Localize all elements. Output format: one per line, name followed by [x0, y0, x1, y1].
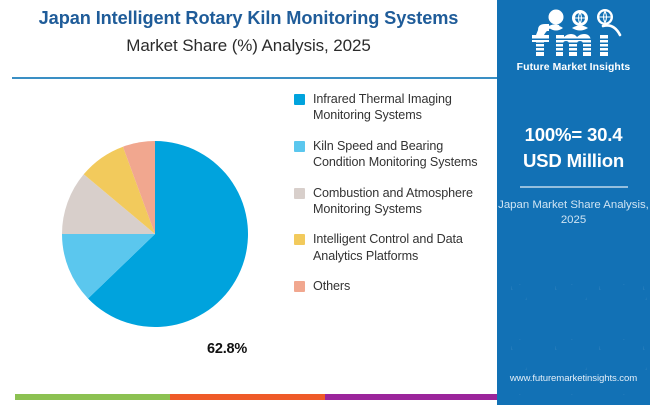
brand-side-panel: Future Market Insights 100%= 30.4 USD Mi… [497, 0, 650, 405]
pie-chart [62, 141, 248, 327]
fmi-logo-tagline: Future Market Insights [497, 62, 650, 73]
legend-item-label: Intelligent Control and Data Analytics P… [313, 231, 488, 264]
page-title: Japan Intelligent Rotary Kiln Monitoring… [0, 8, 497, 29]
legend-swatch-icon [294, 94, 305, 105]
fmi-logo: Future Market Insights [497, 8, 650, 73]
legend-item-label: Infrared Thermal Imaging Monitoring Syst… [313, 91, 488, 124]
stat-total-unit: USD Million [497, 148, 650, 174]
legend-item[interactable]: Kiln Speed and Bearing Condition Monitor… [294, 138, 494, 171]
strip-segment [170, 394, 325, 400]
stat-divider [520, 186, 628, 188]
chart-legend: Infrared Thermal Imaging Monitoring Syst… [294, 91, 494, 309]
fmi-logo-icon [512, 8, 636, 60]
pie-slice-data-label: 62.8% [207, 341, 247, 357]
infographic-root: Japan Intelligent Rotary Kiln Monitoring… [0, 0, 650, 405]
legend-item[interactable]: Intelligent Control and Data Analytics P… [294, 231, 494, 264]
page-subtitle: Market Share (%) Analysis, 2025 [0, 36, 497, 56]
stat-total-value: 100%= 30.4 [497, 122, 650, 148]
legend-item[interactable]: Infrared Thermal Imaging Monitoring Syst… [294, 91, 494, 124]
legend-item-label: Combustion and Atmosphere Monitoring Sys… [313, 185, 488, 218]
legend-swatch-icon [294, 141, 305, 152]
legend-swatch-icon [294, 188, 305, 199]
legend-swatch-icon [294, 281, 305, 292]
header: Japan Intelligent Rotary Kiln Monitoring… [0, 0, 497, 79]
strip-segment [325, 394, 497, 400]
website-url[interactable]: www.futuremarketinsights.com [497, 373, 650, 384]
legend-swatch-icon [294, 234, 305, 245]
chart-area: 62.8% Infrared Thermal Imaging Monitorin… [0, 79, 497, 384]
strip-segment [15, 394, 170, 400]
legend-item-label: Kiln Speed and Bearing Condition Monitor… [313, 138, 488, 171]
stat-caption: Japan Market Share Analysis, 2025 [497, 198, 650, 228]
legend-item[interactable]: Others [294, 278, 494, 294]
pie-chart-svg [62, 141, 248, 327]
legend-item[interactable]: Combustion and Atmosphere Monitoring Sys… [294, 185, 494, 218]
stat-block: 100%= 30.4 USD Million Japan Market Shar… [497, 122, 650, 228]
legend-item-label: Others [313, 278, 350, 294]
